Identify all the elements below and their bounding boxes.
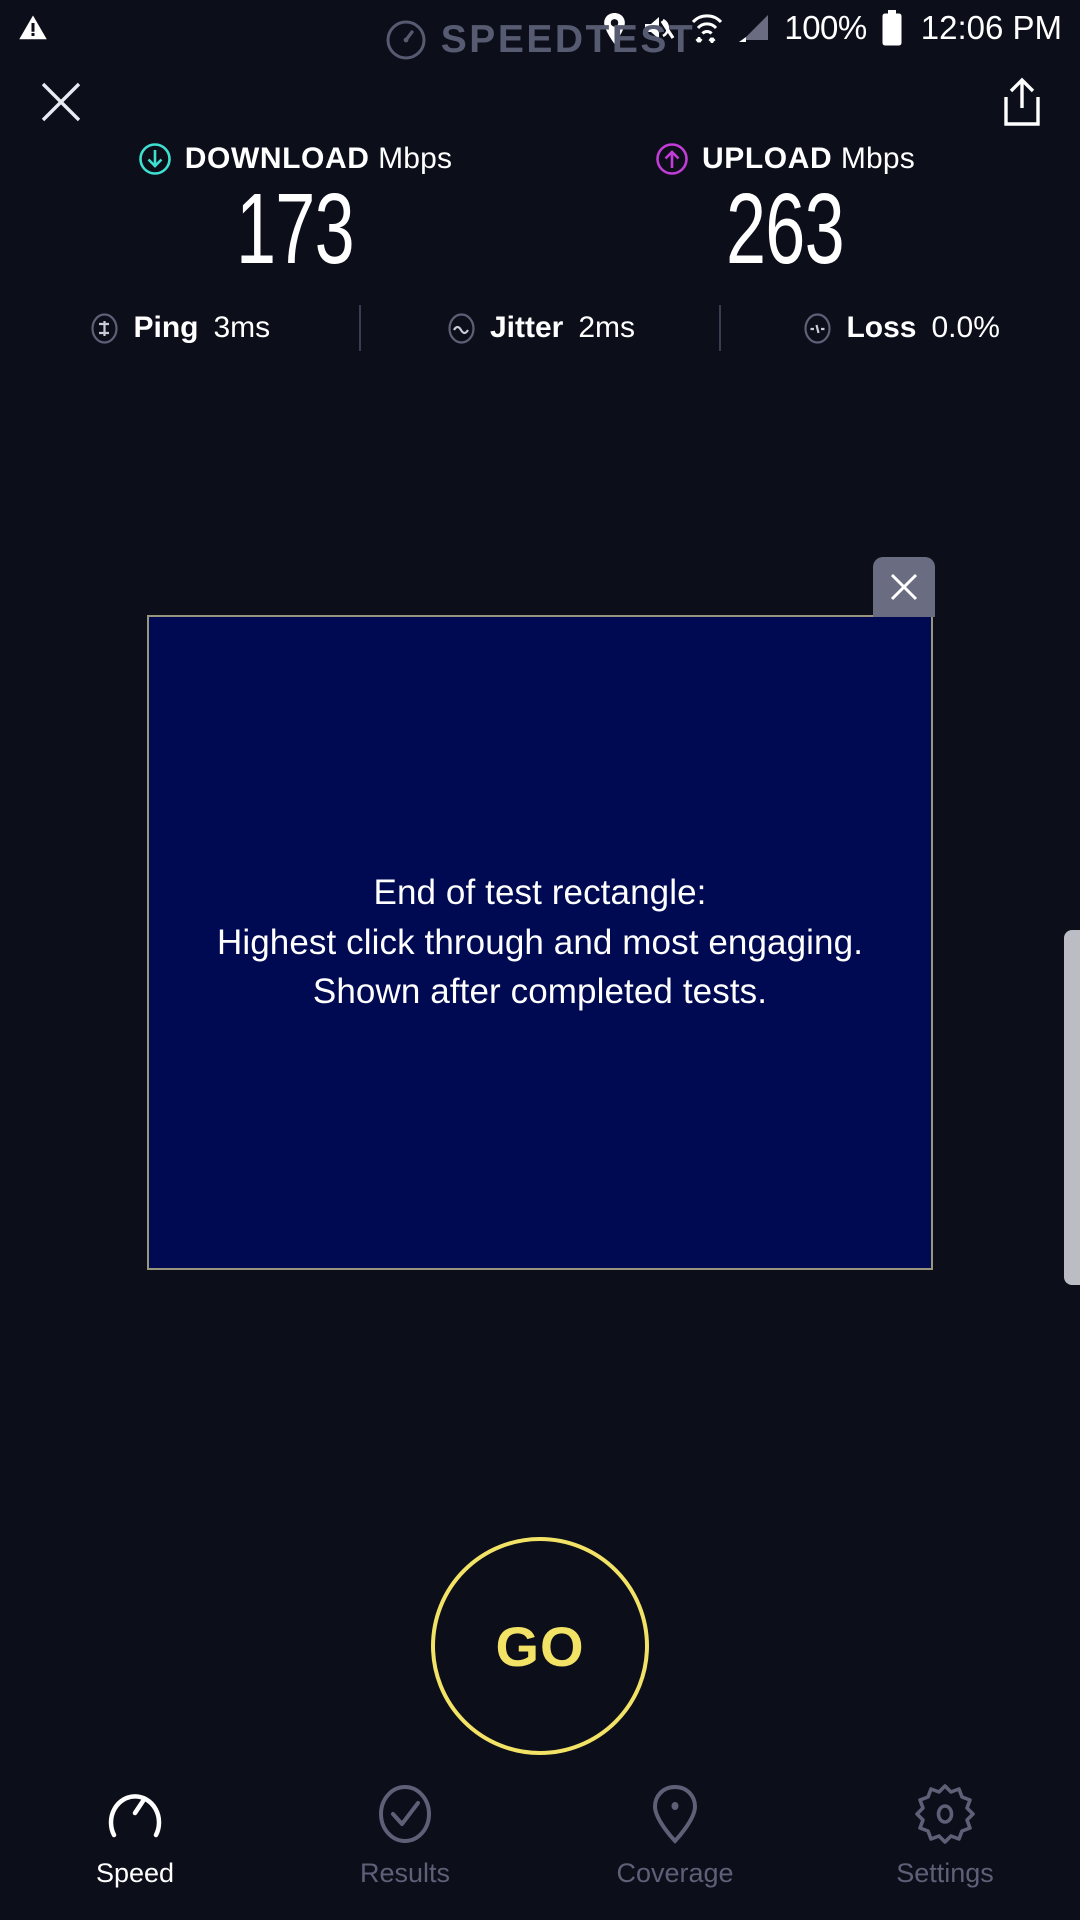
battery-full-icon [881,10,903,46]
cellular-signal-icon [738,13,770,43]
nav-item-speed[interactable]: Speed [0,1783,270,1889]
advertisement-container: End of test rectangle: Highest click thr… [147,615,933,1270]
status-bar-left [18,13,48,43]
download-label: DOWNLOAD Mbps [185,142,453,176]
upload-label-bold: UPLOAD [702,142,832,175]
metric-jitter: Jitter 2ms [361,311,720,345]
ad-close-icon[interactable] [873,557,935,617]
metric-ping-value: 3ms [213,311,270,345]
ad-line-2: Highest click through and most engaging. [217,918,863,968]
volume-muted-icon [642,13,676,43]
download-label-unit: Mbps [378,142,452,175]
status-bar-clock: 12:06 PM [921,9,1062,47]
advertisement-banner[interactable]: End of test rectangle: Highest click thr… [147,615,933,1270]
bottom-navigation: Speed Results Coverage [0,1775,1080,1920]
metric-loss-label: Loss [846,311,916,345]
metric-ping: Ping 3ms [0,311,359,345]
upload-arrow-icon [655,142,689,176]
jitter-icon [445,312,478,345]
metric-ping-label: Ping [133,311,198,345]
status-bar-right: 100% 12:06 PM [601,9,1062,47]
ad-line-3: Shown after completed tests. [217,967,863,1017]
upload-header: UPLOAD Mbps [655,142,915,176]
metric-jitter-label: Jitter [490,311,563,345]
speedtest-app-screen: 100% 12:06 PM [0,0,1080,1920]
upload-label: UPLOAD Mbps [702,142,915,176]
nav-item-settings[interactable]: Settings [810,1783,1080,1889]
battery-percent-label: 100% [784,9,866,47]
upload-label-unit: Mbps [841,142,915,175]
download-label-bold: DOWNLOAD [185,142,370,175]
warning-triangle-icon [18,13,48,43]
app-bar [0,62,1080,142]
nav-item-results-label: Results [360,1858,450,1889]
nav-item-settings-label: Settings [896,1858,994,1889]
nav-item-results[interactable]: Results [270,1783,540,1889]
ad-line-1: End of test rectangle: [217,868,863,918]
vertical-scrollbar[interactable] [1064,930,1080,1285]
nav-item-coverage-label: Coverage [616,1858,733,1889]
gear-icon [914,1783,976,1845]
location-pin-icon [601,13,628,44]
speed-results: DOWNLOAD Mbps 173 UPLOAD [0,142,1080,282]
download-header: DOWNLOAD Mbps [138,142,453,176]
metric-loss-value: 0.0% [932,311,1000,345]
status-bar: 100% 12:06 PM [0,0,1080,56]
ping-icon [88,312,121,345]
speed-columns: DOWNLOAD Mbps 173 UPLOAD [0,142,1080,282]
upload-value: 263 [726,176,844,282]
close-icon[interactable] [38,79,84,125]
check-circle-icon [374,1783,436,1845]
nav-item-coverage[interactable]: Coverage [540,1783,810,1889]
nav-item-speed-label: Speed [96,1858,174,1889]
download-arrow-icon [138,142,172,176]
location-pin-icon [644,1783,706,1845]
metric-loss: Loss 0.0% [721,311,1080,345]
metrics-row: Ping 3ms Jitter 2ms Loss 0.0% [0,300,1080,356]
upload-result: UPLOAD Mbps 263 [570,142,1000,282]
advertisement-text: End of test rectangle: Highest click thr… [199,868,881,1017]
loss-icon [801,312,834,345]
wifi-icon [690,12,724,45]
share-icon[interactable] [1002,77,1042,127]
speedometer-icon [104,1783,166,1845]
download-value: 173 [236,176,354,282]
go-button-label: GO [495,1614,584,1679]
go-button[interactable]: GO [431,1537,649,1755]
metric-jitter-value: 2ms [578,311,635,345]
download-result: DOWNLOAD Mbps 173 [80,142,510,282]
